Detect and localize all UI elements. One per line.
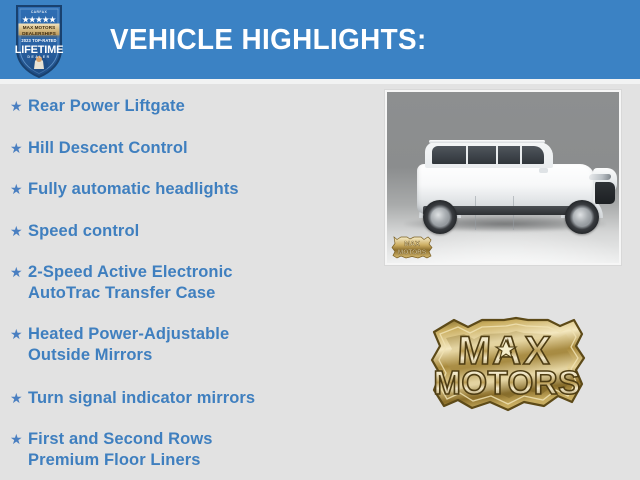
star-bullet-icon: ★ [8, 96, 28, 117]
front-wheel [565, 200, 599, 234]
star-bullet-icon: ★ [8, 324, 28, 345]
star-bullet-icon: ★ [8, 262, 28, 283]
logo-wordmark-motors: MOTORS [433, 364, 580, 401]
header-divider [0, 79, 640, 84]
roof-rail [429, 140, 545, 143]
highlight-item: ★2-Speed Active Electronic AutoTrac Tran… [8, 262, 233, 304]
highlight-label: Heated Power-Adjustable Outside Mirrors [28, 324, 229, 366]
highlight-label: Turn signal indicator mirrors [28, 388, 255, 409]
svg-text:MAX: MAX [404, 241, 420, 248]
star-bullet-icon: ★ [8, 179, 28, 200]
highlight-label: Hill Descent Control [28, 138, 188, 159]
side-mirror [539, 168, 548, 173]
rear-wheel [423, 200, 457, 234]
page-title: VEHICLE HIGHLIGHTS: [110, 24, 427, 57]
highlight-item: ★Turn signal indicator mirrors [8, 388, 255, 409]
highlight-label: Speed control [28, 221, 139, 242]
slide-header: CARFAX ★★★★★ MAX MOTORS DEALERSHIPS 2023… [0, 0, 640, 79]
highlight-label: 2-Speed Active Electronic AutoTrac Trans… [28, 262, 233, 304]
highlight-item: ★Heated Power-Adjustable Outside Mirrors [8, 324, 229, 366]
star-bullet-icon: ★ [8, 221, 28, 242]
headlight [588, 174, 611, 180]
max-motors-dealer-logo: MAX MOTORS [424, 312, 590, 416]
highlight-item: ★Fully automatic headlights [8, 179, 239, 200]
highlight-label: Rear Power Liftgate [28, 96, 185, 117]
star-bullet-icon: ★ [8, 138, 28, 159]
highlight-item: ★Rear Power Liftgate [8, 96, 185, 117]
svg-text:MOTORS: MOTORS [433, 364, 580, 401]
vehicle-windows [432, 146, 544, 164]
vehicle-photo-frame[interactable]: MAX MOTORS [384, 89, 622, 266]
star-bullet-icon: ★ [8, 388, 28, 409]
vehicle-photo[interactable]: MAX MOTORS [387, 92, 619, 263]
highlight-item: ★Speed control [8, 221, 139, 242]
highlight-item: ★First and Second Rows Premium Floor Lin… [8, 429, 213, 471]
carfax-top-rated-dealer-badge: CARFAX ★★★★★ MAX MOTORS DEALERSHIPS 2023… [13, 3, 65, 79]
highlight-label: First and Second Rows Premium Floor Line… [28, 429, 213, 471]
shield-icon [13, 3, 65, 79]
vehicle-highlights-slide: CARFAX ★★★★★ MAX MOTORS DEALERSHIPS 2023… [0, 0, 640, 480]
svg-text:MOTORS: MOTORS [398, 249, 427, 256]
highlight-item: ★Hill Descent Control [8, 138, 188, 159]
star-bullet-icon: ★ [8, 429, 28, 450]
suv-illustration [399, 138, 609, 234]
front-grille [593, 182, 615, 204]
photo-dealer-watermark-icon: MAX MOTORS [390, 235, 434, 260]
highlight-label: Fully automatic headlights [28, 179, 239, 200]
